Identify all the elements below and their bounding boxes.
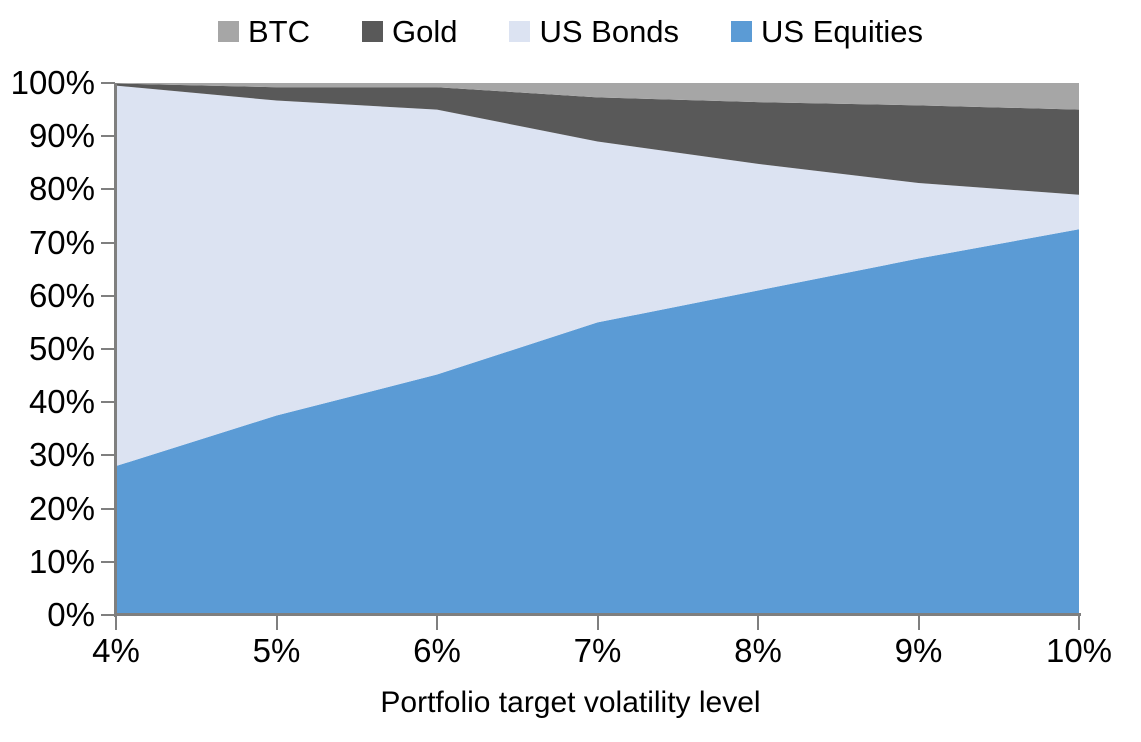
x-axis-label: 6% [413,634,461,667]
legend-item-us-bonds[interactable]: US Bonds [509,16,679,47]
y-axis-tick [101,454,115,456]
legend-label-gold: Gold [392,16,457,47]
x-axis-tick [918,616,920,630]
y-axis-label: 50% [29,332,95,365]
legend-label-us-equities: US Equities [761,16,923,47]
legend-label-btc: BTC [248,16,310,47]
y-axis-label: 80% [29,172,95,205]
legend-item-us-equities[interactable]: US Equities [731,16,923,47]
y-axis-label: 70% [29,226,95,259]
x-axis-title: Portfolio target volatility level [0,688,1141,718]
x-axis-tick [1078,616,1080,630]
y-axis-tick [101,508,115,510]
y-axis-label: 30% [29,438,95,471]
legend-item-gold[interactable]: Gold [362,16,457,47]
x-axis-tick [276,616,278,630]
x-axis-tick [115,616,117,630]
legend-label-us-bonds: US Bonds [539,16,679,47]
y-axis-label: 20% [29,492,95,525]
y-axis-tick [101,82,115,84]
legend-swatch-us-equities [731,21,752,42]
legend-swatch-gold [362,21,383,42]
legend-swatch-btc [218,21,239,42]
y-axis-tick [101,614,115,616]
y-axis-tick [101,348,115,350]
y-axis-tick [101,242,115,244]
y-axis-tick [101,561,115,563]
y-axis-tick [101,135,115,137]
x-axis-tick [757,616,759,630]
x-axis-label: 10% [1046,634,1112,667]
y-axis-label: 40% [29,385,95,418]
y-axis-tick [101,188,115,190]
x-axis-label: 7% [574,634,622,667]
y-axis-label: 10% [29,545,95,578]
area-series-group [116,83,1079,615]
y-axis-tick [101,401,115,403]
x-axis-tick [436,616,438,630]
chart-legend: BTC Gold US Bonds US Equities [0,8,1141,54]
legend-swatch-us-bonds [509,21,530,42]
x-axis-label: 4% [92,634,140,667]
y-axis-label: 90% [29,119,95,152]
x-axis-label: 5% [253,634,301,667]
y-axis-label: 60% [29,279,95,312]
stacked-area-chart: BTC Gold US Bonds US Equities 0%10%20%30… [0,0,1141,742]
x-axis-tick [597,616,599,630]
x-axis-label: 8% [734,634,782,667]
legend-item-btc[interactable]: BTC [218,16,310,47]
y-axis-line [114,83,117,617]
y-axis-tick [101,295,115,297]
y-axis-label: 0% [47,598,95,631]
y-axis-label: 100% [11,66,95,99]
x-axis-label: 9% [895,634,943,667]
plot-area [116,83,1079,615]
